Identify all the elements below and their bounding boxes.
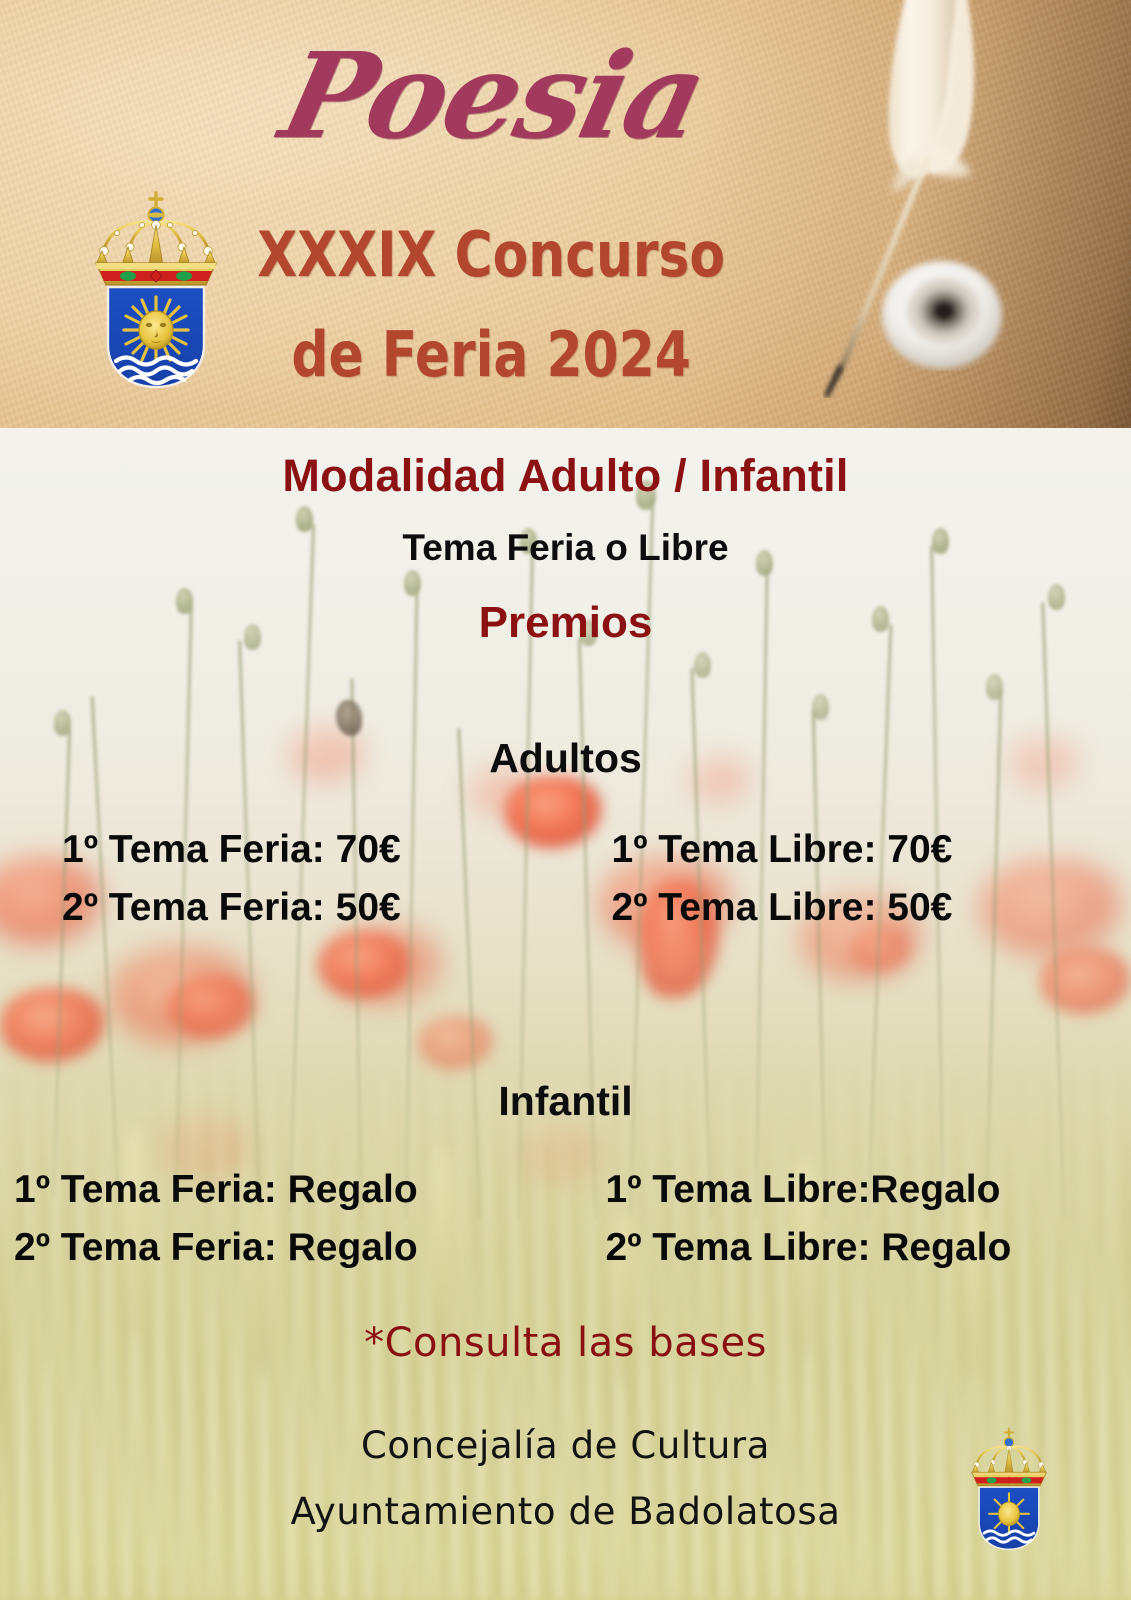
footer-department: Concejalía de Cultura <box>0 1424 1131 1467</box>
prize-adultos-1-feria: 1º Tema Feria: 70€ <box>0 828 566 872</box>
prize-infantil-2-feria: 2º Tema Feria: Regalo <box>0 1226 566 1270</box>
tema-subheading: Tema Feria o Libre <box>0 527 1131 569</box>
premios-heading: Premios <box>0 598 1131 648</box>
category-heading-adultos: Adultos <box>0 735 1131 782</box>
prize-grid-adultos: 1º Tema Feria: 70€ 1º Tema Libre: 70€ 2º… <box>0 828 1131 930</box>
consulta-bases-note: *Consulta las bases <box>0 1320 1131 1366</box>
footer-organisation: Ayuntamiento de Badolatosa <box>0 1490 1131 1533</box>
prize-infantil-1-feria: 1º Tema Feria: Regalo <box>0 1168 566 1212</box>
prize-adultos-2-feria: 2º Tema Feria: 50€ <box>0 886 566 930</box>
prize-infantil-2-libre: 2º Tema Libre: Regalo <box>566 1226 1131 1270</box>
poster-text-layer: Modalidad Adulto / Infantil Tema Feria o… <box>0 0 1131 1600</box>
badolatosa-coat-of-arms-small-icon <box>963 1423 1055 1555</box>
modalidad-heading: Modalidad Adulto / Infantil <box>0 450 1131 502</box>
prize-infantil-1-libre: 1º Tema Libre:Regalo <box>566 1168 1131 1212</box>
poster-canvas: Poesia XXXIX Concurso de Feria 2024 <box>0 0 1131 1600</box>
prize-grid-infantil: 1º Tema Feria: Regalo 1º Tema Libre:Rega… <box>0 1168 1131 1270</box>
category-heading-infantil: Infantil <box>0 1078 1131 1125</box>
prize-adultos-2-libre: 2º Tema Libre: 50€ <box>566 886 1131 930</box>
prize-adultos-1-libre: 1º Tema Libre: 70€ <box>566 828 1131 872</box>
